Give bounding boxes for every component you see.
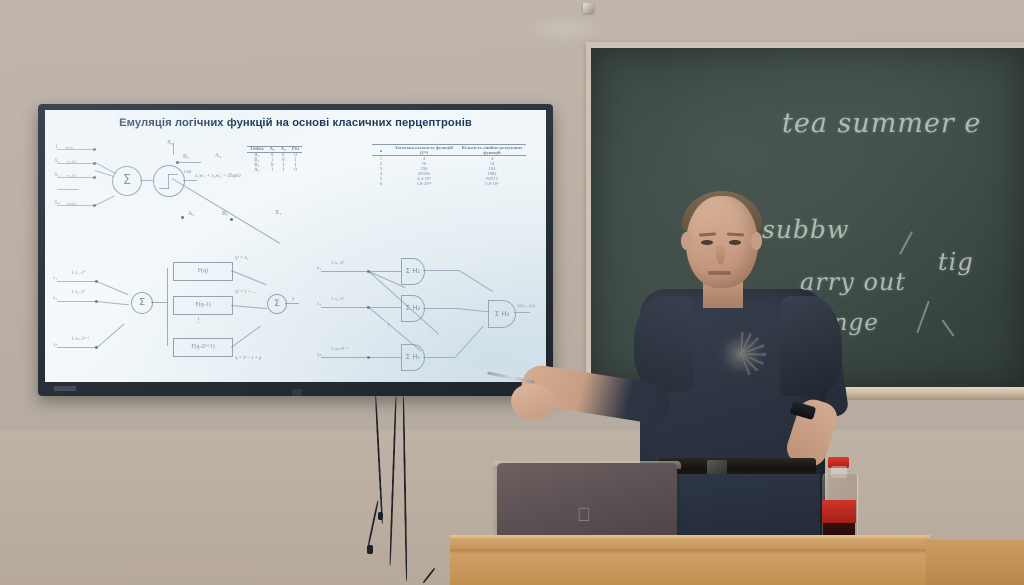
counts-cell: 5,0·10⁶ <box>458 181 526 186</box>
nose <box>716 245 725 264</box>
net-out-wire-1 <box>423 270 459 271</box>
eye-right <box>729 240 741 245</box>
block-wire-2 <box>57 301 97 302</box>
truth-table-header-point: Точка <box>247 147 267 153</box>
plot-point-b2: B₂ <box>183 154 189 160</box>
chalk-line-3: arry out <box>800 268 906 296</box>
plot-x-axis-label: X₁ <box>275 210 281 216</box>
net-wire-1 <box>321 271 369 272</box>
perceptron-node-dot-n <box>93 204 96 207</box>
truth-cell: 1 <box>278 168 289 173</box>
perceptron-sum-to-act <box>140 180 153 181</box>
net-output-wire <box>514 312 530 313</box>
block-out-join-n <box>231 326 261 348</box>
counts-cell: 6 <box>372 181 390 186</box>
function-counts-table: n Загальна кількість функцій (2²ⁿ) Кільк… <box>372 144 526 186</box>
perceptron-sum-node: Σ <box>112 166 142 196</box>
ear-left <box>681 232 692 250</box>
block-ellipsis: ⋮ <box>195 316 202 324</box>
block-input-weight-n: 1·xₙ·2ⁿ⁻¹ <box>71 336 90 342</box>
net-output-neuron: Σ H₀ <box>488 300 516 328</box>
counts-header-total: Загальна кількість функцій (2²ⁿ) <box>390 145 458 156</box>
perceptron-node-dot-0 <box>93 148 96 151</box>
block-input-weight-1: 1·x₁·2⁰ <box>71 270 86 276</box>
perceptron-wire-2 <box>57 177 95 178</box>
wall-light-sheen <box>520 14 610 44</box>
shoulder-left <box>634 296 694 391</box>
plot-point-a2: A₂ <box>188 211 194 217</box>
mouth <box>708 271 731 275</box>
net-neuron-1: Σ H₁ <box>401 258 425 285</box>
counts-header-row: n Загальна кількість функцій (2²ⁿ) Кільк… <box>372 145 526 156</box>
step-rise <box>168 174 169 189</box>
net-output-label: y(x₁...xₙ) <box>517 303 535 309</box>
block-wire-n <box>57 347 97 348</box>
perceptron-weight-n: wₙ(t) <box>67 201 76 207</box>
block-out-join-1 <box>231 270 267 285</box>
net-wire-2 <box>321 307 369 308</box>
net-edge-label-n: 1·xₙ·2ⁿ⁻¹ <box>331 346 348 352</box>
counts-header-n: n <box>372 145 390 156</box>
block-function-2: F(q-1) <box>173 296 233 315</box>
perceptron-wire-dots <box>57 189 79 190</box>
net-ellipsis: ⋮ <box>385 322 392 330</box>
block-note-1: q¹ = x₁ <box>235 256 249 261</box>
net-neuron-2: Σ H₂ <box>401 295 425 322</box>
apple-logo-icon:  <box>575 506 593 527</box>
net-join-1 <box>459 270 493 292</box>
block-function-1: F(q) <box>173 262 233 281</box>
block-note-2: q² = 1 + ... <box>235 290 256 295</box>
belt-buckle <box>707 460 727 475</box>
tv-brand-badge <box>54 386 76 391</box>
perceptron-node-dot-2 <box>93 176 96 179</box>
net-out-wire-n <box>423 357 455 358</box>
block-output-label: y <box>292 296 295 302</box>
eye-left <box>701 240 713 245</box>
plot-axis-seg-1 <box>179 162 201 163</box>
lecture-room-photo: tea summer e subbw arry out tig ange Ему… <box>0 0 1024 585</box>
podium-right-section <box>926 540 1024 585</box>
block-function-n: F(q-2ⁿ+1) <box>173 338 233 357</box>
block-join-2 <box>97 301 129 305</box>
block-note-n: q = 2ⁿ - 1 + ρ <box>235 356 261 361</box>
net-wire-n <box>321 357 369 358</box>
net-out-wire-2 <box>423 308 457 309</box>
cable-1-plug <box>367 545 373 554</box>
chalk-line-1: tea summer e <box>782 108 981 139</box>
net-join-2 <box>457 308 489 312</box>
bottle-label <box>822 500 856 523</box>
truth-cell: 0 <box>289 168 302 173</box>
tv-ir-sensor <box>292 389 302 396</box>
truth-cell: A₂ <box>247 168 267 173</box>
shirt-graphic <box>714 330 768 378</box>
table-row: 6 1,8·10¹⁹ 5,0·10⁶ <box>372 181 526 186</box>
table-row: A₂ 1 1 0 <box>247 168 302 173</box>
block-sum-out <box>151 302 167 303</box>
cable-clip <box>378 512 383 520</box>
podium <box>450 538 930 585</box>
chalk-line-2: subbw <box>762 215 849 244</box>
net-neuron-n: Σ Hₙ <box>401 344 425 371</box>
block-join-1 <box>97 281 129 295</box>
perceptron-wire-n <box>57 205 95 206</box>
block-sum-node: Σ <box>131 292 153 314</box>
truth-table-header-row: Точка X₁ X₂ Рез <box>247 147 302 153</box>
plot-point-dot-a2 <box>181 216 184 219</box>
block-bus-vertical <box>167 268 168 346</box>
truth-cell: 1 <box>267 168 278 173</box>
block-wire-1 <box>57 281 97 282</box>
perceptron-output-label: Out <box>184 170 192 175</box>
tv-screen[interactable]: Емуляція логічних функцій на основі клас… <box>45 110 546 382</box>
counts-header-separable: Кількість лінійно роздільних функцій <box>458 145 526 156</box>
wall-bracket-fixture <box>583 3 594 13</box>
perceptron-wire-1 <box>57 163 95 164</box>
plot-point-a1: A₁ <box>215 153 221 159</box>
perceptron-join-0 <box>95 162 117 174</box>
perceptron-activation-node <box>153 165 185 197</box>
slide-title: Емуляція логічних функцій на основі клас… <box>45 117 546 129</box>
net-join-n <box>455 326 484 358</box>
net-edge-2-2 <box>369 307 401 308</box>
perceptron-join-n <box>95 195 115 205</box>
laptop[interactable] <box>497 463 677 540</box>
step-hi <box>168 174 178 175</box>
net-edge-1-1 <box>369 271 401 272</box>
net-edge-n-n <box>369 357 401 358</box>
block-input-weight-2: 1·x₂·2¹ <box>71 290 85 295</box>
truth-table: Точка X₁ X₂ Рез A₁ 0 0 0 B₁ 1 0 1 B₂ 0 1 <box>247 146 302 173</box>
shoulder-right <box>780 296 842 396</box>
net-edge-label-2: 1·x₂·2¹ <box>331 296 344 301</box>
ear-right <box>751 232 762 250</box>
perceptron-wire-0 <box>57 149 95 150</box>
net-edge-label-1: 1·x₁·2⁰ <box>331 260 344 266</box>
block-out-join-2 <box>231 305 267 309</box>
plot-point-b1: B₁ <box>222 211 228 217</box>
plot-y-axis <box>173 143 174 155</box>
plot-separator-equation: x₁w₁ + x₂w₂ = Поріг <box>195 173 241 179</box>
counts-cell: 1,8·10¹⁹ <box>390 181 458 186</box>
perceptron-output-wire <box>183 180 197 181</box>
block-join-n <box>97 323 125 347</box>
perceptron-node-dot-1 <box>93 162 96 165</box>
block-output-wire <box>285 303 299 304</box>
plot-point-dot-b1 <box>230 218 233 221</box>
chalk-line-4: tig <box>938 248 974 276</box>
block-output-sum-node: Σ <box>267 294 287 314</box>
